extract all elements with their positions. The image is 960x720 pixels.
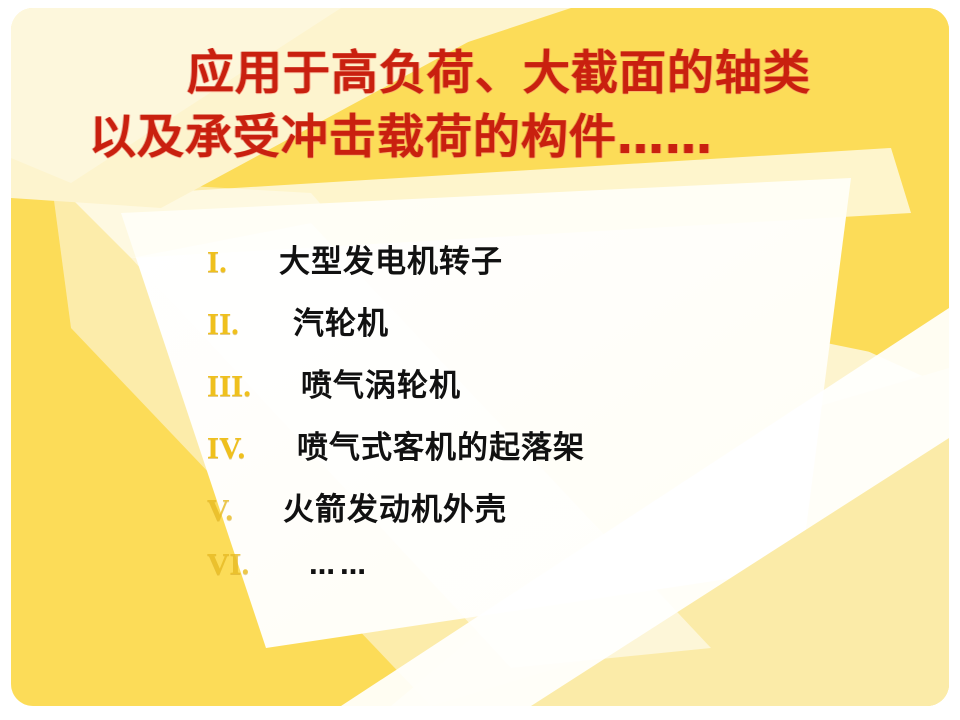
list-item: III. 喷气涡轮机 (207, 360, 907, 422)
list-item-label: 喷气式客机的起落架 (297, 422, 585, 467)
ordered-list: I. 大型发电机转子 II. 汽轮机 III. 喷气涡轮机 IV. 喷气式客机的… (207, 236, 907, 608)
list-item-label: …… (309, 551, 371, 581)
list-item: V. 火箭发动机外壳 (207, 484, 907, 546)
slide-canvas: 应用于高负荷、大截面的轴类 以及承受冲击载荷的构件…… I. 大型发电机转子 I… (0, 0, 960, 720)
list-item-numeral: III. (207, 368, 279, 404)
list-item: VI. …… (207, 546, 907, 608)
list-item-numeral: VI. (207, 546, 279, 582)
list-item: II. 汽轮机 (207, 298, 907, 360)
list-item-label: 大型发电机转子 (279, 236, 503, 281)
list-item-numeral: I. (207, 244, 279, 280)
list-item: IV. 喷气式客机的起落架 (207, 422, 907, 484)
list-item-label: 火箭发动机外壳 (283, 484, 507, 529)
list-item-numeral: II. (207, 306, 279, 342)
list-item-label: 喷气涡轮机 (301, 360, 461, 405)
slide-panel: 应用于高负荷、大截面的轴类 以及承受冲击载荷的构件…… I. 大型发电机转子 I… (11, 8, 949, 706)
list-item: I. 大型发电机转子 (207, 236, 907, 298)
list-item-numeral: IV. (207, 430, 279, 466)
list-item-numeral: V. (207, 492, 279, 528)
list-item-label: 汽轮机 (293, 298, 389, 343)
